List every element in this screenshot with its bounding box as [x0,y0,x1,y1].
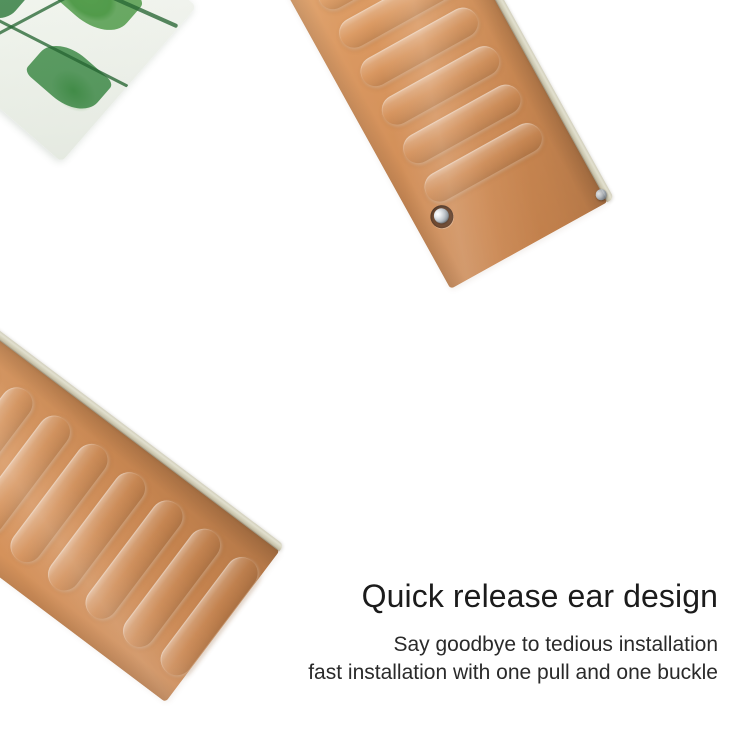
upper-brown-watch-strap [276,0,608,289]
subtitle-line-1: Say goodbye to tedious installation [248,631,718,659]
page-title: Quick release ear design [248,576,718,616]
marketing-text-block: Quick release ear design Say goodbye to … [248,576,718,687]
product-marketing-image: Quick release ear design Say goodbye to … [0,0,750,750]
leaf-print-watch-strap [0,0,197,162]
leaf-strap-gloss [0,0,197,162]
lower-brown-watch-strap [0,268,280,703]
subtitle-line-2: fast installation with one pull and one … [248,659,718,687]
